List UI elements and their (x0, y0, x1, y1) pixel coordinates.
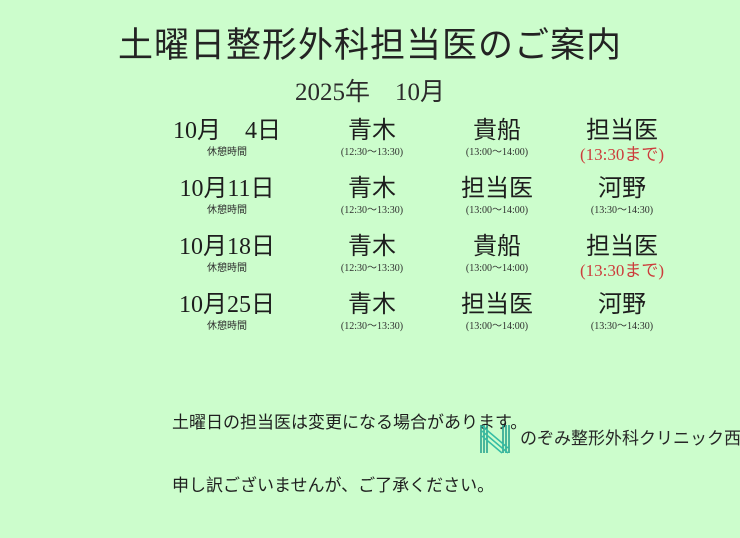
break-time-label: 休憩時間 (132, 204, 322, 217)
page-subtitle: 2025年 10月 (0, 79, 740, 107)
slot-time: (13:30～14:30) (552, 204, 692, 217)
schedule-date: 10月18日 (132, 234, 322, 261)
slot-time-alert: (13:30まで) (552, 261, 692, 281)
schedule-date-cell: 10月25日 休憩時間 (132, 292, 322, 333)
schedule-date: 10月25日 (132, 292, 322, 319)
doctor-name: 貴船 (432, 234, 562, 261)
doctor-name: 担当医 (552, 118, 692, 145)
schedule-date-cell: 10月11日 休憩時間 (132, 176, 322, 217)
table-row: 10月25日 休憩時間 青木 (12:30～13:30) 担当医 (13:00～… (132, 292, 672, 350)
slot-time: (13:00～14:00) (432, 320, 562, 333)
schedule-date: 10月 4日 (132, 118, 322, 145)
slot-time: (12:30～13:30) (307, 262, 437, 275)
poster-canvas: 土曜日整形外科担当医のご案内 2025年 10月 10月 4日 休憩時間 青木 … (0, 0, 740, 460)
schedule-table: 10月 4日 休憩時間 青木 (12:30～13:30) 貴船 (13:00～1… (132, 118, 672, 350)
clinic-name: のぞみ整形外科クリニック西条 (520, 429, 740, 449)
schedule-date-cell: 10月18日 休憩時間 (132, 234, 322, 275)
table-row: 10月 4日 休憩時間 青木 (12:30～13:30) 貴船 (13:00～1… (132, 118, 672, 176)
doctor-name: 青木 (307, 234, 437, 261)
slot-time: (12:30～13:30) (307, 320, 437, 333)
slot-time: (12:30～13:30) (307, 204, 437, 217)
schedule-slot1-cell: 青木 (12:30～13:30) (307, 118, 437, 159)
slot-time: (13:30～14:30) (552, 320, 692, 333)
doctor-name: 貴船 (432, 118, 562, 145)
doctor-name: 担当医 (432, 292, 562, 319)
schedule-slot3-cell: 河野 (13:30～14:30) (552, 292, 692, 333)
schedule-slot3-cell: 担当医 (13:30まで) (552, 234, 692, 281)
clinic-logo: のぞみ整形外科クリニック西条 (478, 422, 740, 456)
doctor-name: 河野 (552, 176, 692, 203)
clinic-n-logo-icon (478, 422, 512, 456)
schedule-slot2-cell: 担当医 (13:00～14:00) (432, 292, 562, 333)
table-row: 10月18日 休憩時間 青木 (12:30～13:30) 貴船 (13:00～1… (132, 234, 672, 292)
doctor-name: 青木 (307, 176, 437, 203)
slot-time: (13:00～14:00) (432, 262, 562, 275)
slot-time: (13:00～14:00) (432, 146, 562, 159)
doctor-name: 青木 (307, 118, 437, 145)
schedule-slot2-cell: 貴船 (13:00～14:00) (432, 118, 562, 159)
schedule-slot1-cell: 青木 (12:30～13:30) (307, 176, 437, 217)
doctor-name: 河野 (552, 292, 692, 319)
schedule-slot1-cell: 青木 (12:30～13:30) (307, 234, 437, 275)
schedule-slot1-cell: 青木 (12:30～13:30) (307, 292, 437, 333)
break-time-label: 休憩時間 (132, 146, 322, 159)
disclaimer-line-2: 申し訳ございませんが、ご了承ください。 (172, 475, 527, 496)
break-time-label: 休憩時間 (132, 262, 322, 275)
schedule-slot3-cell: 河野 (13:30～14:30) (552, 176, 692, 217)
doctor-name: 担当医 (552, 234, 692, 261)
schedule-date: 10月11日 (132, 176, 322, 203)
schedule-slot2-cell: 担当医 (13:00～14:00) (432, 176, 562, 217)
slot-time: (13:00～14:00) (432, 204, 562, 217)
slot-time-alert: (13:30まで) (552, 145, 692, 165)
doctor-name: 青木 (307, 292, 437, 319)
table-row: 10月11日 休憩時間 青木 (12:30～13:30) 担当医 (13:00～… (132, 176, 672, 234)
page-title: 土曜日整形外科担当医のご案内 (0, 26, 740, 66)
doctor-name: 担当医 (432, 176, 562, 203)
schedule-slot3-cell: 担当医 (13:30まで) (552, 118, 692, 165)
slot-time: (12:30～13:30) (307, 146, 437, 159)
disclaimer-note: 土曜日の担当医は変更になる場合があります。 申し訳ございませんが、ご了承ください… (172, 370, 527, 538)
break-time-label: 休憩時間 (132, 320, 322, 333)
disclaimer-line-1: 土曜日の担当医は変更になる場合があります。 (172, 412, 527, 433)
schedule-slot2-cell: 貴船 (13:00～14:00) (432, 234, 562, 275)
schedule-date-cell: 10月 4日 休憩時間 (132, 118, 322, 159)
